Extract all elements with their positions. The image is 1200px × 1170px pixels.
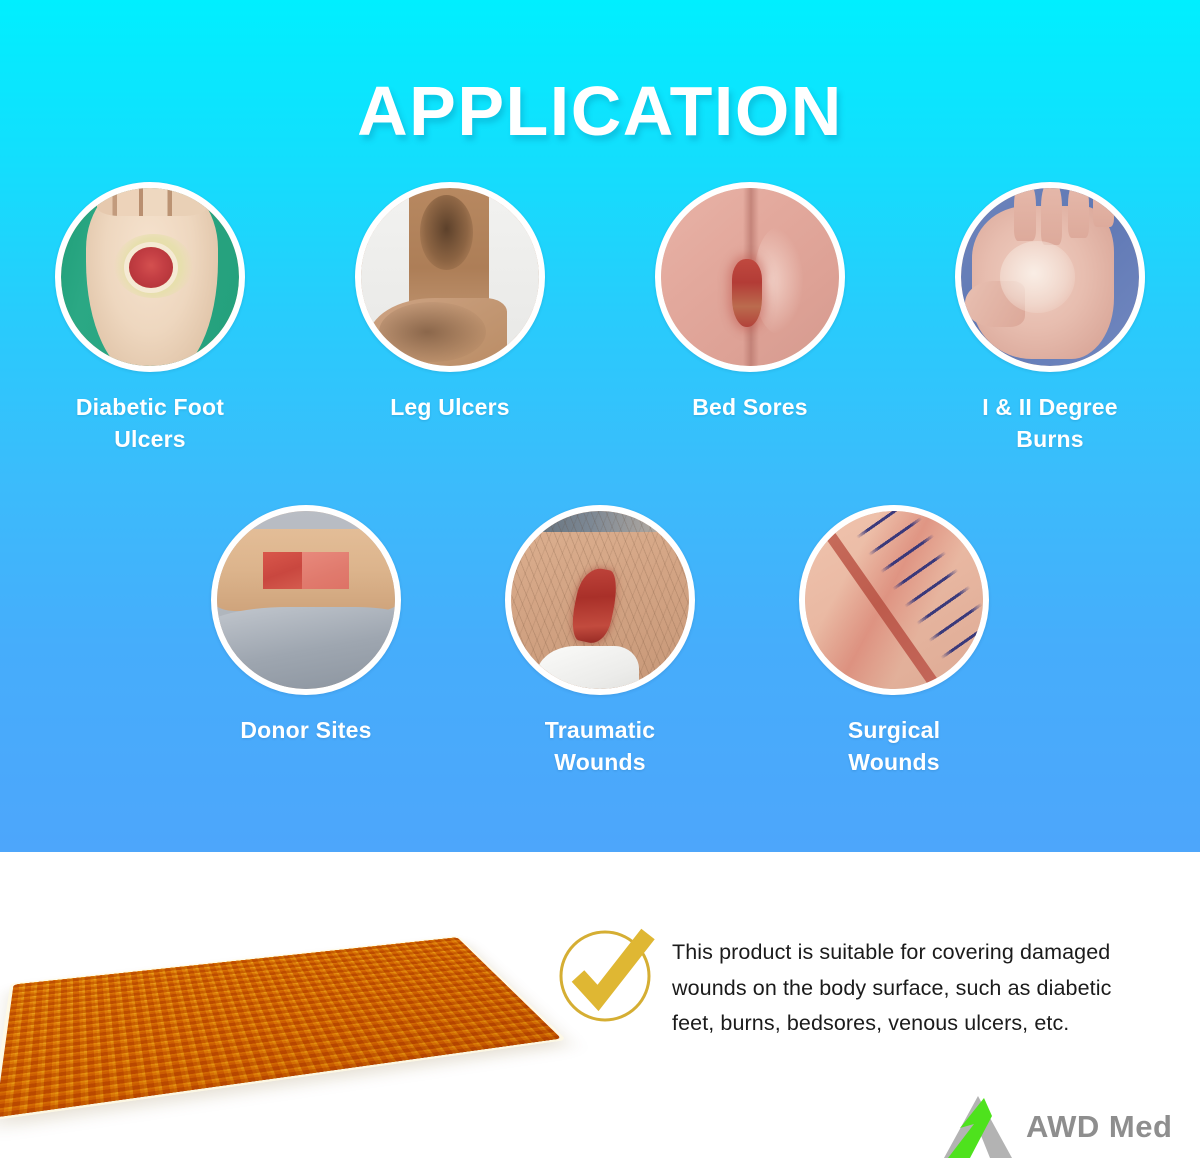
- application-row-2: Donor Sites Traumatic Wounds: [0, 505, 1200, 778]
- application-label: Donor Sites: [240, 715, 371, 747]
- application-item-traumatic-wounds[interactable]: Traumatic Wounds: [453, 505, 747, 778]
- application-label: Bed Sores: [692, 392, 808, 424]
- application-label: I & II Degree Burns: [982, 392, 1118, 455]
- bed-sore-photo: [655, 182, 845, 372]
- page-title: APPLICATION: [0, 76, 1200, 146]
- application-infographic: APPLICATION Diabetic Foot Ulcers: [0, 0, 1200, 1170]
- application-row-1: Diabetic Foot Ulcers Leg Ulcers: [0, 182, 1200, 455]
- traumatic-wound-photo: [505, 505, 695, 695]
- application-label: Diabetic Foot Ulcers: [76, 392, 224, 455]
- application-label: Leg Ulcers: [390, 392, 510, 424]
- burn-injury-photo: [955, 182, 1145, 372]
- application-item-burns[interactable]: I & II Degree Burns: [900, 182, 1200, 455]
- check-circle-icon: [552, 918, 662, 1028]
- application-item-leg-ulcers[interactable]: Leg Ulcers: [300, 182, 600, 455]
- application-item-donor-sites[interactable]: Donor Sites: [159, 505, 453, 778]
- product-description: This product is suitable for covering da…: [672, 935, 1142, 1042]
- application-item-surgical-wounds[interactable]: Surgical Wounds: [747, 505, 1041, 778]
- application-label: Traumatic Wounds: [545, 715, 655, 778]
- awd-med-logo: AWD Med: [940, 1092, 1180, 1162]
- surgical-wound-photo: [799, 505, 989, 695]
- logo-text: AWD Med: [1026, 1109, 1172, 1145]
- application-item-diabetic-foot-ulcers[interactable]: Diabetic Foot Ulcers: [0, 182, 300, 455]
- hero-gradient-panel: APPLICATION Diabetic Foot Ulcers: [0, 0, 1200, 852]
- awd-med-triangle-arrow-logo: [940, 1094, 1016, 1160]
- leg-ulcer-photo: [355, 182, 545, 372]
- application-label: Surgical Wounds: [848, 715, 940, 778]
- donor-site-photo: [211, 505, 401, 695]
- diabetic-foot-ulcer-photo: [55, 182, 245, 372]
- application-item-bed-sores[interactable]: Bed Sores: [600, 182, 900, 455]
